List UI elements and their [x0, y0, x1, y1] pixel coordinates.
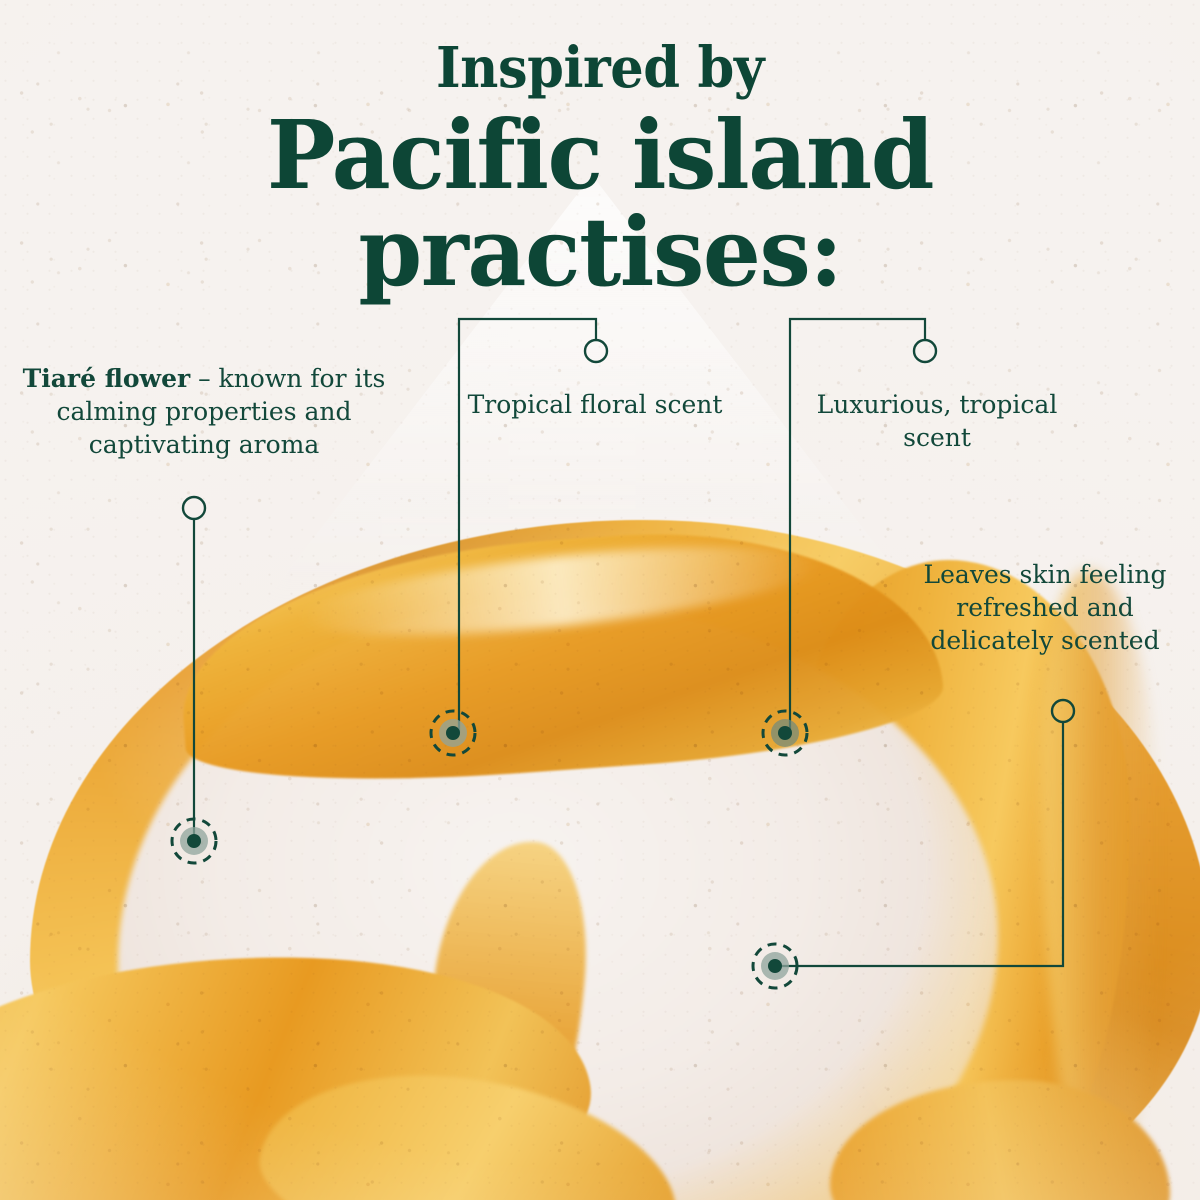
- connector-line-refreshed: [775, 722, 1063, 966]
- endpoint-ring-tiare-flower: [183, 497, 205, 519]
- marker-refreshed[interactable]: [749, 940, 801, 992]
- marker-luxurious[interactable]: [759, 707, 811, 759]
- connector-line-luxurious: [790, 319, 925, 733]
- callout-tropical-floral: Tropical floral scent: [466, 388, 724, 421]
- callout-refreshed: Leaves skin feeling refreshed and delica…: [900, 558, 1190, 657]
- connector-line-tropical-floral: [459, 319, 596, 733]
- endpoint-ring-refreshed: [1052, 700, 1074, 722]
- callout-tiare-flower: Tiaré flower – known for its calming pro…: [20, 362, 388, 461]
- callout-luxurious: Luxurious, tropical scent: [812, 388, 1062, 454]
- infographic-canvas: Inspired by Pacific island practises:: [0, 0, 1200, 1200]
- callout-tiare-flower-lead: Tiaré flower: [23, 364, 191, 393]
- marker-tropical-floral[interactable]: [427, 707, 479, 759]
- endpoint-ring-luxurious: [914, 340, 936, 362]
- marker-tiare-flower[interactable]: [168, 815, 220, 867]
- endpoint-ring-tropical-floral: [585, 340, 607, 362]
